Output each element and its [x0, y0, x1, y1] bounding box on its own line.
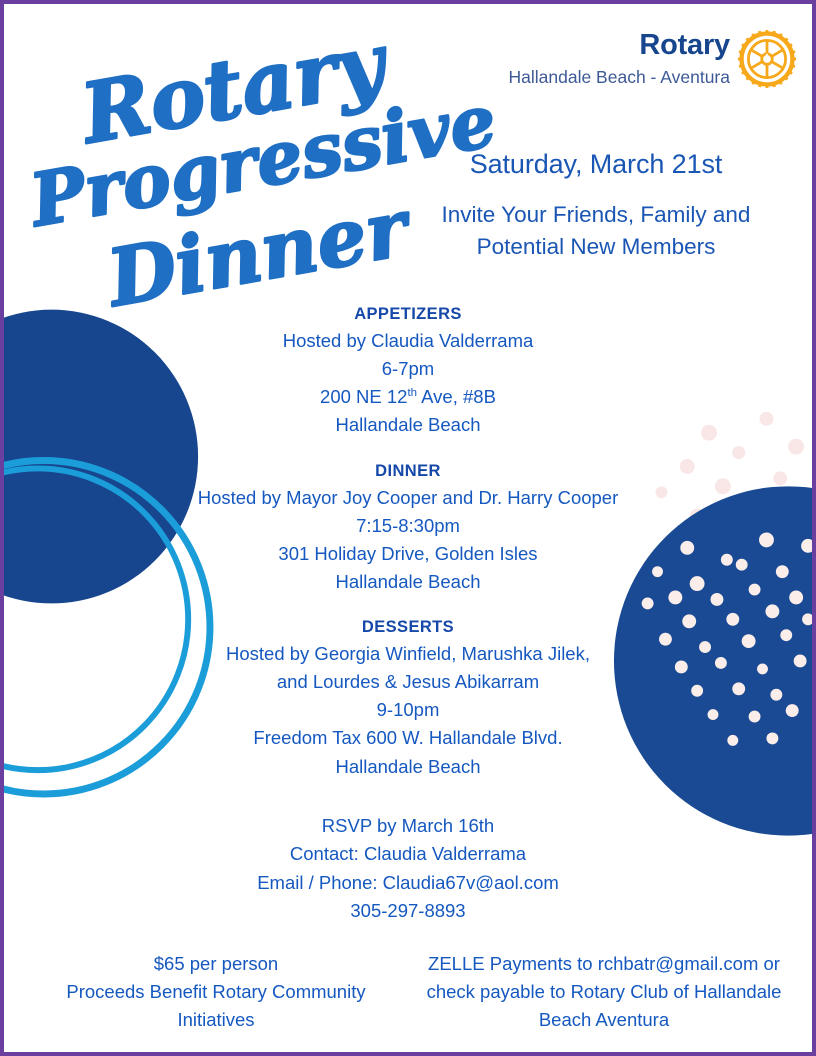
rsvp-contact: Contact: Claudia Valderrama: [4, 840, 812, 868]
rotary-wheel-icon: [736, 28, 798, 90]
flyer-page: Rotary Hallandale Beach - Aventura: [0, 0, 816, 1056]
script-title-artwork: Rotary Progressive Dinner: [22, 48, 422, 308]
event-invite: Invite Your Friends, Family and Potentia…: [396, 199, 796, 263]
footer-price: $65 per person: [22, 950, 410, 978]
event-invite-line-2: Potential New Members: [396, 231, 796, 263]
course-host-line-2: and Lourdes & Jesus Abikarram: [4, 668, 812, 696]
event-invite-line-1: Invite Your Friends, Family and: [396, 199, 796, 231]
course-city: Hallandale Beach: [4, 753, 812, 781]
course-address-number: 200 NE 12: [320, 386, 407, 407]
course-dinner: DINNER Hosted by Mayor Joy Cooper and Dr…: [4, 459, 812, 597]
course-time: 9-10pm: [4, 696, 812, 724]
brand-name: Rotary: [509, 31, 731, 60]
footer-proceeds-line-1: Proceeds Benefit Rotary Community: [22, 978, 410, 1006]
footer-payment-line-3: Beach Aventura: [414, 1006, 794, 1034]
course-city: Hallandale Beach: [4, 411, 812, 439]
course-host: Hosted by Mayor Joy Cooper and Dr. Harry…: [4, 484, 812, 512]
course-title: DINNER: [4, 459, 812, 484]
course-desserts: DESSERTS Hosted by Georgia Winfield, Mar…: [4, 615, 812, 781]
course-host-line-1: Hosted by Georgia Winfield, Marushka Jil…: [4, 640, 812, 668]
course-city: Hallandale Beach: [4, 568, 812, 596]
rsvp-email[interactable]: Email / Phone: Claudia67v@aol.com: [4, 869, 812, 897]
brand-club-name: Hallandale Beach - Aventura: [509, 69, 731, 87]
rotary-brand-lockup: Rotary Hallandale Beach - Aventura: [509, 28, 799, 90]
footer-payment-line-2: check payable to Rotary Club of Hallanda…: [414, 978, 794, 1006]
footer-pricing-block: $65 per person Proceeds Benefit Rotary C…: [22, 950, 410, 1034]
footer: $65 per person Proceeds Benefit Rotary C…: [4, 950, 812, 1034]
footer-proceeds-line-2: Initiatives: [22, 1006, 410, 1034]
rsvp-deadline: RSVP by March 16th: [4, 812, 812, 840]
rsvp-block: RSVP by March 16th Contact: Claudia Vald…: [4, 812, 812, 925]
course-address-ordinal: th: [407, 387, 417, 399]
brand-text-block: Rotary Hallandale Beach - Aventura: [509, 28, 731, 87]
rsvp-phone[interactable]: 305-297-8893: [4, 897, 812, 925]
course-address: Freedom Tax 600 W. Hallandale Blvd.: [4, 724, 812, 752]
footer-payment-line-1: ZELLE Payments to rchbatr@gmail.com or: [414, 950, 794, 978]
course-address: 301 Holiday Drive, Golden Isles: [4, 540, 812, 568]
course-address-street: Ave, #8B: [417, 386, 496, 407]
course-sections: APPETIZERS Hosted by Claudia Valderrama …: [4, 302, 812, 781]
course-address: 200 NE 12th Ave, #8B: [4, 383, 812, 411]
course-host: Hosted by Claudia Valderrama: [4, 327, 812, 355]
course-title: DESSERTS: [4, 615, 812, 640]
course-time: 7:15-8:30pm: [4, 512, 812, 540]
footer-payment-block: ZELLE Payments to rchbatr@gmail.com or c…: [414, 950, 794, 1034]
course-time: 6-7pm: [4, 355, 812, 383]
